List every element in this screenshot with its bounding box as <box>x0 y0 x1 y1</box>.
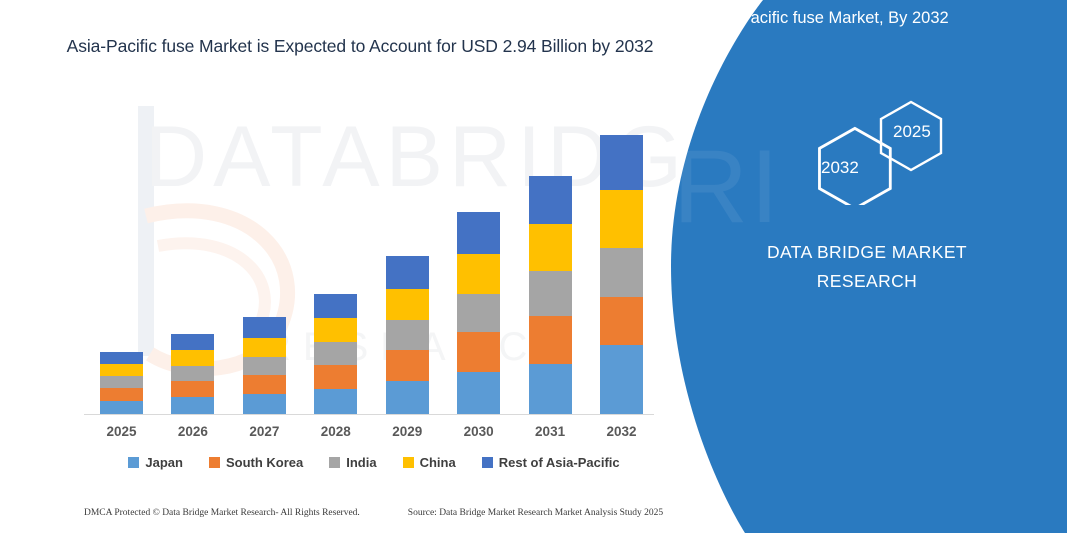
bar-segment-2029-india <box>386 320 429 350</box>
x-axis-label-2027: 2027 <box>243 424 286 439</box>
bar-segment-2029-japan <box>386 381 429 414</box>
bar-2027 <box>243 317 286 414</box>
bar-segment-2025-china <box>100 364 143 376</box>
bar-2025 <box>100 352 143 414</box>
bar-segment-2028-china <box>314 318 357 342</box>
legend-item-south-korea[interactable]: South Korea <box>209 455 303 470</box>
x-axis-label-2031: 2031 <box>529 424 572 439</box>
infographic-root: DATABRIDGE RESEARCH Asia-Pacific fuse Ma… <box>0 0 1067 533</box>
hexagon-group: 2032 2025 <box>797 95 957 205</box>
legend-label: South Korea <box>226 455 303 470</box>
chart-legend: JapanSouth KoreaIndiaChinaRest of Asia-P… <box>84 455 664 470</box>
bar-segment-2031-india <box>529 271 572 316</box>
bar-segment-2026-japan <box>171 397 214 414</box>
bar-segment-2031-south-korea <box>529 316 572 364</box>
bar-segment-2030-india <box>457 294 500 332</box>
bar-2029 <box>386 256 429 414</box>
bar-segment-2027-japan <box>243 394 286 414</box>
footer-source: Source: Data Bridge Market Research Mark… <box>408 508 663 518</box>
brand-name-line2: RESEARCH <box>817 271 917 291</box>
bar-2031 <box>529 176 572 414</box>
bar-segment-2029-rest-of-asia-pacific <box>386 256 429 289</box>
legend-item-japan[interactable]: Japan <box>128 455 183 470</box>
x-axis-label-2026: 2026 <box>171 424 214 439</box>
bar-2028 <box>314 294 357 414</box>
hexagon-label-2032: 2032 <box>821 158 859 178</box>
bar-segment-2025-india <box>100 376 143 388</box>
bar-segment-2029-china <box>386 289 429 320</box>
bar-segment-2026-rest-of-asia-pacific <box>171 334 214 350</box>
brand-name: DATA BRIDGE MARKET RESEARCH <box>687 238 1047 296</box>
chart-pane: DATABRIDGE RESEARCH Asia-Pacific fuse Ma… <box>0 0 760 533</box>
bar-segment-2025-south-korea <box>100 388 143 401</box>
hexagon-shapes <box>797 95 957 205</box>
bar-segment-2031-china <box>529 224 572 271</box>
bar-segment-2032-south-korea <box>600 297 643 345</box>
bar-segment-2027-china <box>243 338 286 357</box>
footer: DMCA Protected © Data Bridge Market Rese… <box>84 508 684 518</box>
bar-segment-2030-south-korea <box>457 332 500 372</box>
bar-segment-2029-south-korea <box>386 350 429 381</box>
x-axis-line <box>84 414 654 415</box>
legend-label: Rest of Asia-Pacific <box>499 455 620 470</box>
bar-segment-2032-japan <box>600 345 643 414</box>
x-axis-label-2028: 2028 <box>314 424 357 439</box>
bar-segment-2026-south-korea <box>171 381 214 397</box>
bar-segment-2028-japan <box>314 389 357 414</box>
bar-segment-2031-japan <box>529 364 572 414</box>
legend-item-india[interactable]: India <box>329 455 376 470</box>
stacked-bar-chart: 20252026202720282029203020312032 <box>0 0 760 533</box>
legend-swatch-icon <box>403 457 414 468</box>
bar-segment-2026-china <box>171 350 214 366</box>
x-axis-label-2032: 2032 <box>600 424 643 439</box>
bar-segment-2032-rest-of-asia-pacific <box>600 135 643 190</box>
x-axis-label-2025: 2025 <box>100 424 143 439</box>
bar-segment-2028-south-korea <box>314 365 357 389</box>
bar-segment-2030-rest-of-asia-pacific <box>457 212 500 254</box>
legend-swatch-icon <box>482 457 493 468</box>
bar-segment-2030-japan <box>457 372 500 414</box>
bar-segment-2031-rest-of-asia-pacific <box>529 176 572 224</box>
brand-name-line1: DATA BRIDGE MARKET <box>767 242 967 262</box>
bar-2030 <box>457 212 500 414</box>
footer-copyright: DMCA Protected © Data Bridge Market Rese… <box>84 508 360 518</box>
bar-segment-2032-india <box>600 248 643 297</box>
brand-panel: RI Asia-Pacific fuse Market, By 2032 203… <box>667 0 1067 533</box>
bar-segment-2027-rest-of-asia-pacific <box>243 317 286 338</box>
bar-2026 <box>171 334 214 414</box>
bar-segment-2027-south-korea <box>243 375 286 394</box>
bar-segment-2030-china <box>457 254 500 294</box>
legend-label: India <box>346 455 376 470</box>
legend-item-rest-of-asia-pacific[interactable]: Rest of Asia-Pacific <box>482 455 620 470</box>
bar-2032 <box>600 135 643 414</box>
legend-swatch-icon <box>128 457 139 468</box>
brand-panel-content: RI Asia-Pacific fuse Market, By 2032 203… <box>667 0 1067 533</box>
x-axis-label-2030: 2030 <box>457 424 500 439</box>
legend-label: China <box>420 455 456 470</box>
hexagon-label-2025: 2025 <box>893 122 931 142</box>
bar-segment-2025-rest-of-asia-pacific <box>100 352 143 364</box>
bar-segment-2028-india <box>314 342 357 365</box>
bar-segment-2027-india <box>243 357 286 375</box>
panel-title: Asia-Pacific fuse Market, By 2032 <box>702 9 1042 28</box>
bar-segment-2025-japan <box>100 401 143 414</box>
panel-watermark: RI <box>673 128 781 247</box>
legend-label: Japan <box>145 455 183 470</box>
legend-item-china[interactable]: China <box>403 455 456 470</box>
bar-segment-2028-rest-of-asia-pacific <box>314 294 357 318</box>
x-axis-label-2029: 2029 <box>386 424 429 439</box>
legend-swatch-icon <box>209 457 220 468</box>
bar-segment-2032-china <box>600 190 643 248</box>
legend-swatch-icon <box>329 457 340 468</box>
bar-segment-2026-india <box>171 366 214 381</box>
